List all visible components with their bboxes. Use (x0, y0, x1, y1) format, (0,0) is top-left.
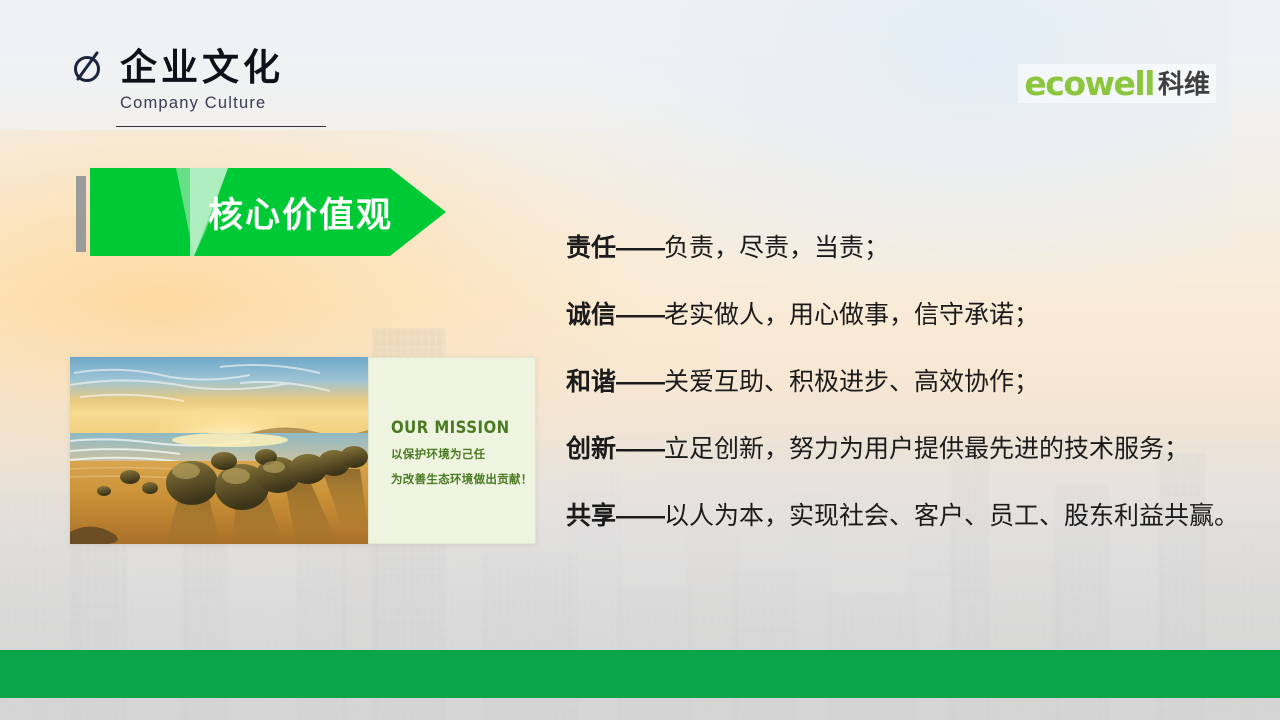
value-desc: 关爱互助、积极进步、高效协作； (664, 368, 1039, 396)
title-divider (116, 126, 326, 127)
value-dash: —— (616, 502, 664, 530)
banner-shadow-bar (76, 176, 86, 252)
value-key: 创新 (566, 435, 616, 463)
page-header: 企业文化 Company Culture (72, 46, 492, 127)
value-dash: —— (616, 301, 664, 329)
value-dash: —— (616, 368, 664, 396)
diameter-symbol-icon (72, 46, 106, 86)
sunset-beach-photo (70, 357, 368, 544)
value-key: 和谐 (566, 368, 616, 396)
value-row: 和谐——关爱互助、积极进步、高效协作； (566, 370, 1266, 395)
value-desc: 以人为本，实现社会、客户、员工、股东利益共赢。 (664, 502, 1239, 530)
brand-logo-word: ecowell (1024, 67, 1154, 100)
value-row: 创新——立足创新，努力为用户提供最先进的技术服务； (566, 437, 1266, 462)
core-values-banner: 核心价值观 (76, 168, 446, 260)
value-dash: —— (616, 435, 664, 463)
value-desc: 老实做人，用心做事，信守承诺； (664, 301, 1039, 329)
brand-logo-cn: 科维 (1158, 71, 1210, 97)
banner-label: 核心价值观 (208, 168, 393, 256)
mission-line-1: 以保护环境为己任 (391, 450, 535, 462)
value-key: 诚信 (566, 301, 616, 329)
value-row: 共享——以人为本，实现社会、客户、员工、股东利益共赢。 (566, 504, 1266, 529)
page-title: 企业文化 (120, 49, 284, 86)
footer-green-bar (0, 650, 1280, 698)
page-subtitle: Company Culture (120, 95, 492, 112)
value-dash: —— (616, 234, 664, 262)
value-desc: 立足创新，努力为用户提供最先进的技术服务； (664, 435, 1189, 463)
core-values-list: 责任——负责，尽责，当责； 诚信——老实做人，用心做事，信守承诺； 和谐——关爱… (566, 236, 1266, 529)
slide-canvas: 企业文化 Company Culture ecowell 科维 核心价值观 (0, 0, 1280, 720)
brand-logo: ecowell 科维 (1018, 64, 1216, 103)
value-desc: 负责，尽责，当责； (664, 234, 889, 262)
mission-text-panel: OUR MISSION 以保护环境为己任 为改善生态环境做出贡献！ (368, 357, 536, 544)
value-row: 诚信——老实做人，用心做事，信守承诺； (566, 303, 1266, 328)
value-key: 共享 (566, 502, 616, 530)
mission-card: OUR MISSION 以保护环境为己任 为改善生态环境做出贡献！ (70, 357, 536, 544)
value-key: 责任 (566, 234, 616, 262)
mission-title: OUR MISSION (391, 420, 518, 437)
mission-line-2: 为改善生态环境做出贡献！ (391, 475, 535, 487)
value-row: 责任——负责，尽责，当责； (566, 236, 1266, 261)
